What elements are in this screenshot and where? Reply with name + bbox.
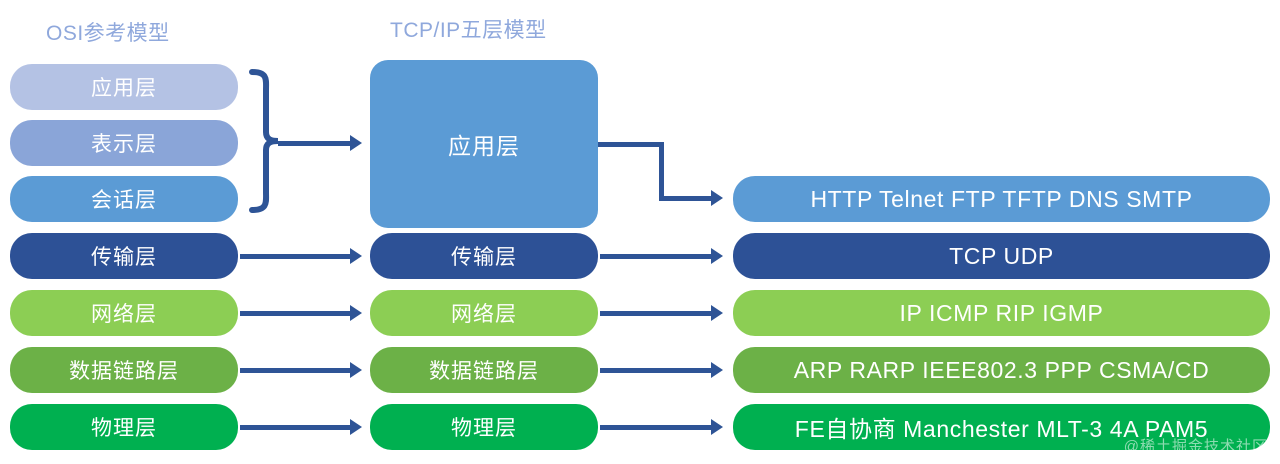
connector-osi-datalink bbox=[240, 368, 352, 373]
tcpip-layer-physical[interactable]: 物理层 bbox=[370, 404, 598, 450]
osi-layer-presentation[interactable]: 表示层 bbox=[10, 120, 238, 166]
connector-transport-to-protocols bbox=[600, 254, 713, 259]
connector-osi-network bbox=[240, 311, 352, 316]
tcpip-layer-datalink[interactable]: 数据链路层 bbox=[370, 347, 598, 393]
arrowhead-physical-to-protocols bbox=[711, 419, 723, 435]
connector-datalink-to-protocols bbox=[600, 368, 713, 373]
tcpip-layer-network[interactable]: 网络层 bbox=[370, 290, 598, 336]
connector-osi-physical bbox=[240, 425, 352, 430]
arrowhead-network-to-protocols bbox=[711, 305, 723, 321]
protocol-row-datalink[interactable]: ARP RARP IEEE802.3 PPP CSMA/CD bbox=[733, 347, 1270, 393]
arrowhead-transport-to-protocols bbox=[711, 248, 723, 264]
connector-osi-transport bbox=[240, 254, 352, 259]
connector-physical-to-protocols bbox=[600, 425, 713, 430]
osi-layer-application[interactable]: 应用层 bbox=[10, 64, 238, 110]
connector-app-elbow-horizontal-bottom bbox=[659, 196, 713, 201]
connector-brace-to-app bbox=[278, 141, 352, 146]
connector-app-elbow-vertical bbox=[659, 142, 664, 199]
tcpip-layer-application[interactable]: 应用层 bbox=[370, 60, 598, 228]
connector-app-elbow-horizontal-top bbox=[598, 142, 664, 147]
arrowhead-osi-transport bbox=[350, 248, 362, 264]
osi-layer-datalink[interactable]: 数据链路层 bbox=[10, 347, 238, 393]
arrowhead-app-to-protocols bbox=[711, 190, 723, 206]
protocol-row-transport[interactable]: TCP UDP bbox=[733, 233, 1270, 279]
arrowhead-osi-physical bbox=[350, 419, 362, 435]
arrowhead-osi-network bbox=[350, 305, 362, 321]
connector-network-to-protocols bbox=[600, 311, 713, 316]
osi-layer-transport[interactable]: 传输层 bbox=[10, 233, 238, 279]
osi-layer-session[interactable]: 会话层 bbox=[10, 176, 238, 222]
diagram-canvas: OSI参考模型 TCP/IP五层模型 应用层 表示层 会话层 传输层 网络层 数… bbox=[0, 0, 1280, 464]
arrowhead-osi-datalink bbox=[350, 362, 362, 378]
arrowhead-brace-to-app bbox=[350, 135, 362, 151]
tcpip-layer-transport[interactable]: 传输层 bbox=[370, 233, 598, 279]
osi-column-title: OSI参考模型 bbox=[46, 17, 170, 47]
tcpip-column-title: TCP/IP五层模型 bbox=[390, 14, 547, 44]
osi-layer-network[interactable]: 网络层 bbox=[10, 290, 238, 336]
protocol-row-application[interactable]: HTTP Telnet FTP TFTP DNS SMTP bbox=[733, 176, 1270, 222]
protocol-row-physical[interactable]: FE自协商 Manchester MLT-3 4A PAM5 bbox=[733, 404, 1270, 450]
arrowhead-datalink-to-protocols bbox=[711, 362, 723, 378]
protocol-row-network[interactable]: IP ICMP RIP IGMP bbox=[733, 290, 1270, 336]
osi-layer-physical[interactable]: 物理层 bbox=[10, 404, 238, 450]
